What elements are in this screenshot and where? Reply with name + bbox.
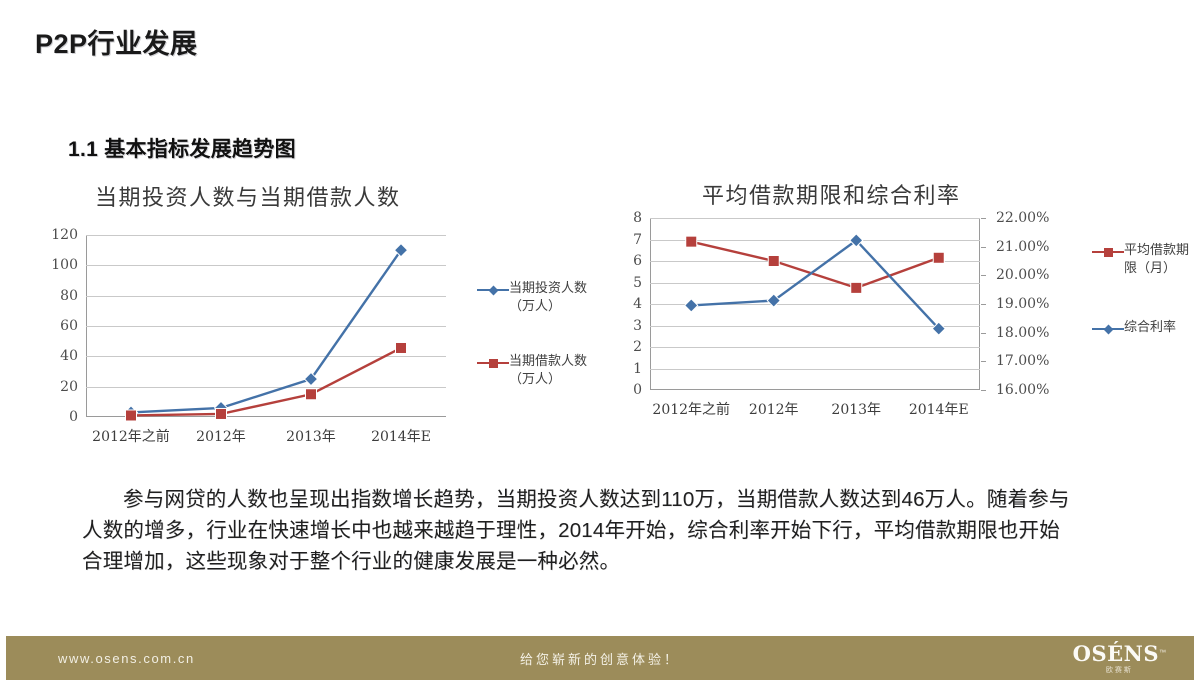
y-axis-tick-label: 3 — [633, 318, 642, 334]
legend-item[interactable]: 当期投资人数 （万人） — [477, 280, 617, 315]
chart-title: 当期投资人数与当期借款人数 — [95, 180, 401, 212]
y-axis-tick-label: 40 — [60, 348, 78, 364]
y-axis-tick-label: 0 — [69, 409, 78, 425]
legend-item[interactable]: 当期借款人数 （万人） — [477, 353, 617, 388]
y2-axis-tick-label: 18.00% — [996, 325, 1049, 341]
x-axis-tick-label: 2012年之前 — [652, 399, 730, 419]
chart-term-rate: 平均借款期限和综合利率 01234567816.00%17.00%18.00%1… — [612, 170, 1200, 440]
data-point-marker — [933, 252, 944, 263]
legend-label: 当期借款人数 （万人） — [509, 353, 587, 388]
data-point-marker — [685, 299, 698, 312]
chart-investors-borrowers: 当期投资人数与当期借款人数 0204060801001202012年之前2012… — [35, 180, 615, 440]
y2-axis-tick-label: 17.00% — [996, 353, 1049, 369]
y-axis-tick-label: 100 — [51, 257, 78, 273]
plot-area: 01234567816.00%17.00%18.00%19.00%20.00%2… — [650, 218, 980, 390]
y-axis-tick-label: 1 — [633, 361, 642, 377]
y-axis-tick-label: 8 — [633, 210, 642, 226]
data-point-marker — [306, 389, 317, 400]
x-axis-tick-label: 2014年E — [909, 399, 969, 419]
legend-square-marker-icon — [477, 355, 509, 371]
y2-axis-tickmark — [981, 275, 986, 276]
y-axis-tick-label: 120 — [51, 227, 78, 243]
x-axis-tick-label: 2013年 — [286, 426, 336, 446]
legend-item[interactable]: 综合利率 — [1092, 319, 1200, 337]
x-axis-tick-label: 2012年 — [749, 399, 799, 419]
brand-logo-subtext: 欧赛斯 — [1073, 667, 1166, 674]
x-axis-tick-label: 2013年 — [831, 399, 881, 419]
series-line — [131, 250, 401, 412]
y2-axis-tickmark — [981, 390, 986, 391]
series-layer — [86, 235, 446, 417]
legend-label: 平均借款期 限（月） — [1124, 242, 1189, 277]
chart-legend: 平均借款期 限（月）综合利率 — [1092, 242, 1200, 379]
y2-axis-tickmark — [981, 247, 986, 248]
y-axis-tick-label: 5 — [633, 275, 642, 291]
series-line — [691, 242, 939, 288]
y2-axis-tickmark — [981, 304, 986, 305]
brand-logo-text: OSÉNS — [1073, 641, 1159, 666]
plot-area: 0204060801001202012年之前2012年2013年2014年E — [86, 235, 446, 417]
legend-square-marker-icon — [1092, 244, 1124, 260]
chart-legend: 当期投资人数 （万人）当期借款人数 （万人） — [477, 280, 617, 426]
data-point-marker — [851, 282, 862, 293]
y2-axis-tick-label: 19.00% — [996, 296, 1049, 312]
y2-axis-tickmark — [981, 361, 986, 362]
x-axis-tick-label: 2012年 — [196, 426, 246, 446]
data-point-marker — [216, 408, 227, 419]
y-axis-tick-label: 80 — [60, 288, 78, 304]
legend-diamond-marker-icon — [1092, 321, 1124, 337]
y2-axis-tickmark — [981, 218, 986, 219]
footer-bar: www.osens.com.cn 给您崭新的创意体验！ OSÉNS™ 欧赛斯 — [6, 636, 1194, 680]
y-axis-tick-label: 2 — [633, 339, 642, 355]
section-title: 1.1 基本指标发展趋势图 — [68, 133, 296, 163]
y-axis-tick-label: 20 — [60, 379, 78, 395]
data-point-marker — [686, 236, 697, 247]
trademark-icon: ™ — [1159, 649, 1166, 656]
legend-item[interactable]: 平均借款期 限（月） — [1092, 242, 1200, 277]
legend-label: 当期投资人数 （万人） — [509, 280, 587, 315]
legend-label: 综合利率 — [1124, 319, 1176, 337]
y2-axis-tick-label: 22.00% — [996, 210, 1049, 226]
y-axis-tick-label: 4 — [633, 296, 642, 312]
x-axis-tick-label: 2012年之前 — [92, 426, 170, 446]
page-title: P2P行业发展 — [35, 22, 198, 61]
y-axis-tick-label: 7 — [633, 232, 642, 248]
series-line — [691, 240, 939, 328]
legend-diamond-marker-icon — [477, 282, 509, 298]
series-line — [131, 348, 401, 415]
y-axis-tick-label: 0 — [633, 382, 642, 398]
footer-slogan: 给您崭新的创意体验！ — [6, 649, 1194, 668]
data-point-marker — [126, 410, 137, 421]
chart-title: 平均借款期限和综合利率 — [702, 178, 961, 210]
data-point-marker — [768, 256, 779, 267]
y2-axis-tick-label: 21.00% — [996, 239, 1049, 255]
y-axis-tick-label: 6 — [633, 253, 642, 269]
data-point-marker — [396, 342, 407, 353]
series-layer — [650, 218, 980, 390]
y2-axis-tick-label: 20.00% — [996, 267, 1049, 283]
y-axis-tick-label: 60 — [60, 318, 78, 334]
x-axis-tick-label: 2014年E — [371, 426, 431, 446]
y2-axis-tick-label: 16.00% — [996, 382, 1049, 398]
brand-logo: OSÉNS™ 欧赛斯 — [1073, 643, 1166, 674]
body-paragraph: 参与网贷的人数也呈现出指数增长趋势，当期投资人数达到110万，当期借款人数达到4… — [82, 484, 1072, 577]
y2-axis-tickmark — [981, 333, 986, 334]
